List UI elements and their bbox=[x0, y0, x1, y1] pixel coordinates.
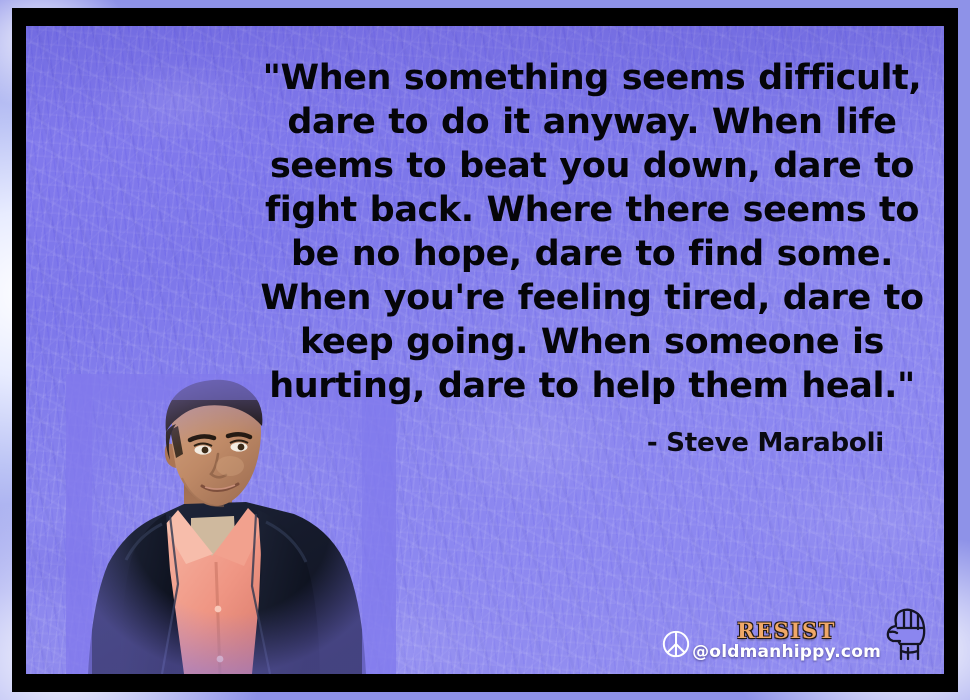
quote-poster: "When something seems difficult, dare to… bbox=[0, 0, 970, 700]
quote-text: "When something seems difficult, dare to… bbox=[258, 56, 926, 408]
quote-block: "When something seems difficult, dare to… bbox=[258, 56, 926, 458]
watermark[interactable]: RESIST @oldmanhippy.com bbox=[661, 600, 930, 662]
raised-fist-icon bbox=[884, 604, 930, 662]
quote-attribution: - Steve Maraboli bbox=[258, 428, 884, 458]
resist-label: RESIST bbox=[737, 620, 836, 641]
domain-label[interactable]: @oldmanhippy.com bbox=[692, 644, 881, 661]
peace-sign-icon bbox=[661, 629, 691, 659]
poster-canvas: "When something seems difficult, dare to… bbox=[26, 26, 944, 674]
watermark-text-group: RESIST @oldmanhippy.com bbox=[692, 620, 881, 661]
